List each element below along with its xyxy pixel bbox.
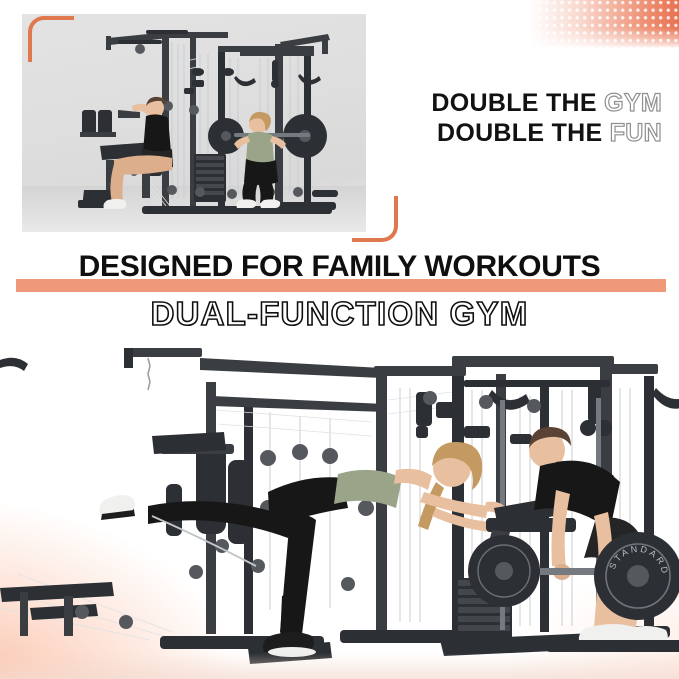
banner-canvas: DOUBLE THE GYM DOUBLE THE FUN DESIGNED F… — [0, 0, 679, 679]
hero-line1-hollow: GYM — [604, 89, 662, 117]
hero-line2-solid: DOUBLE THE — [437, 119, 603, 147]
headline-block: DESIGNED FOR FAMILY WORKOUTS DUAL-FUNCTI… — [0, 246, 679, 342]
hero-tagline-line-1: DOUBLE THE GYM — [382, 88, 662, 118]
lifestyle-scene-illustration: STANDARD — [0, 340, 679, 679]
halftone-fade-overlay — [529, 0, 679, 49]
page-subtitle: DUAL-FUNCTION GYM — [0, 294, 679, 334]
scene-floor-shadow — [0, 653, 679, 679]
chain — [148, 358, 150, 390]
corner-bracket-bottom-right — [352, 196, 398, 242]
hero-line2-hollow: FUN — [610, 119, 662, 147]
hero-tagline-line-2: DOUBLE THE FUN — [382, 118, 662, 148]
woman-cable-kickback — [99, 442, 506, 657]
page-title: DESIGNED FOR FAMILY WORKOUTS — [0, 246, 679, 288]
lifestyle-hero-image: STANDARD — [0, 340, 679, 679]
hero-tagline: DOUBLE THE GYM DOUBLE THE FUN — [382, 88, 662, 148]
corner-bracket-top-left — [28, 16, 74, 62]
hero-line1-solid: DOUBLE THE — [431, 89, 597, 117]
product-photo-two-users — [22, 14, 366, 232]
rack-base-front — [546, 640, 679, 652]
